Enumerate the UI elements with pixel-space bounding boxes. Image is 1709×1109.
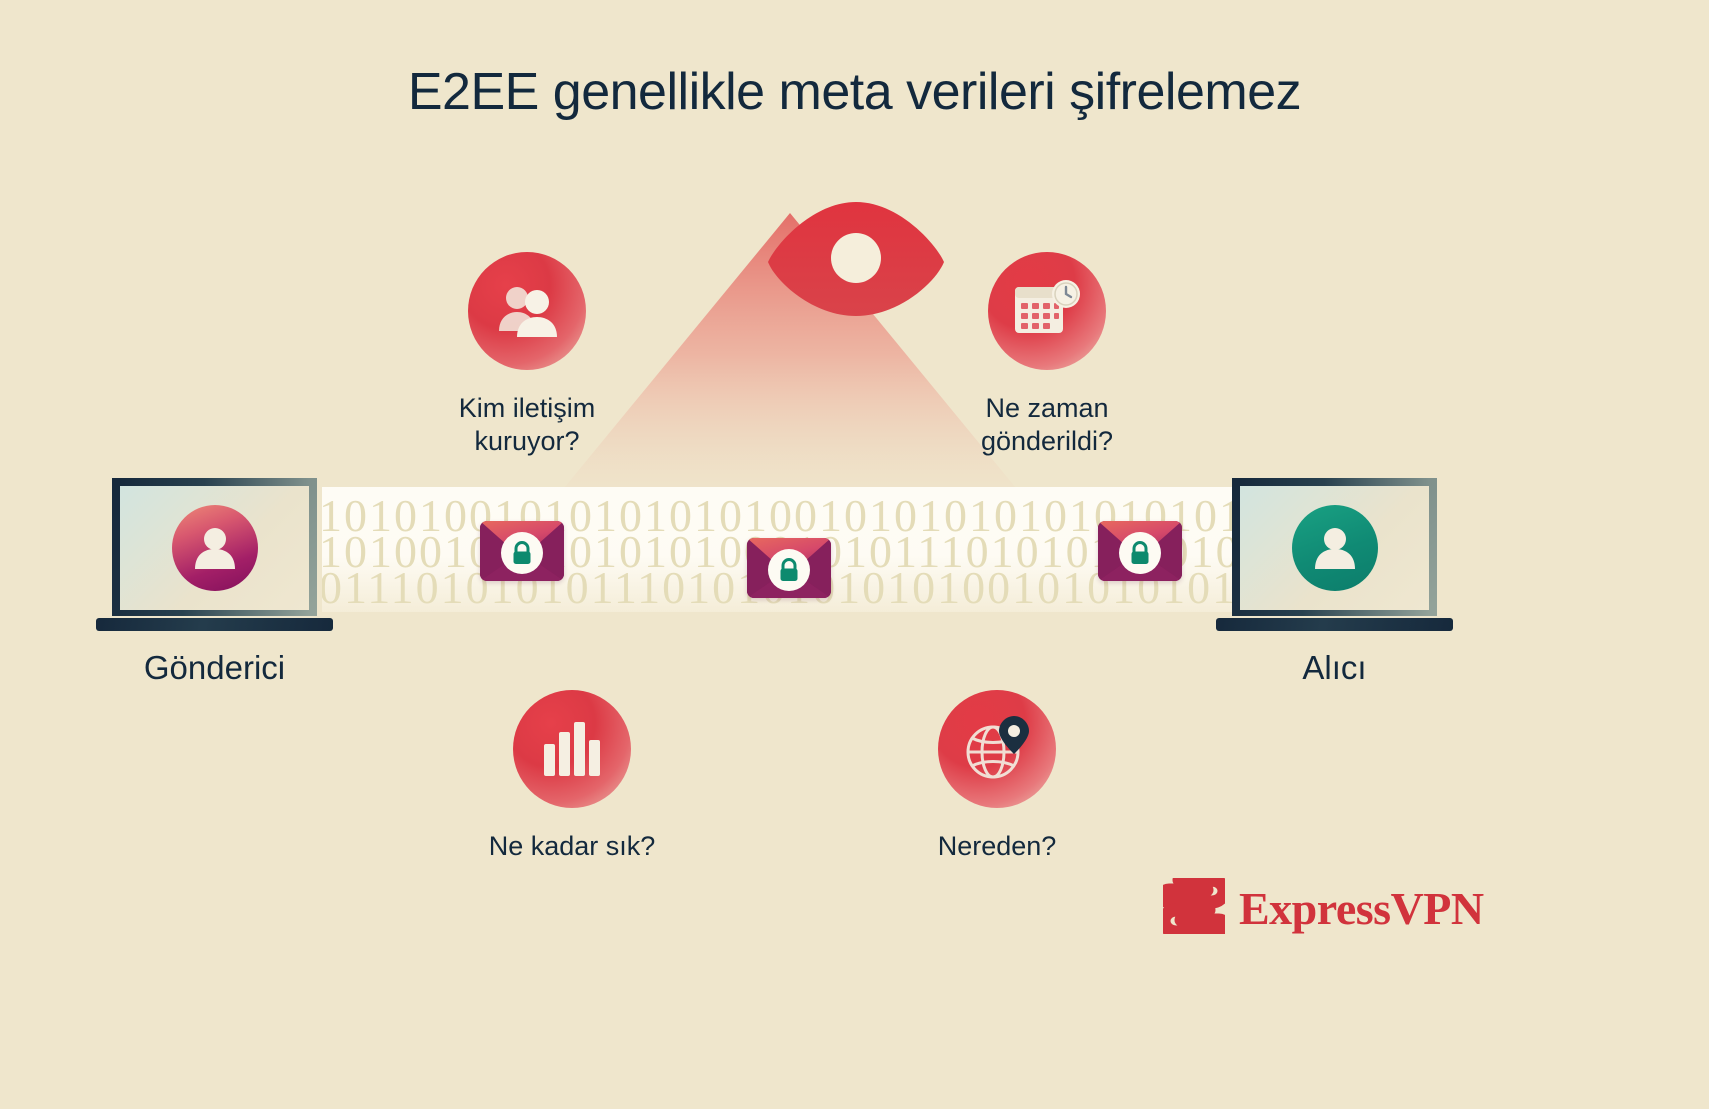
receiver-label: Alıcı xyxy=(1232,649,1437,687)
metadata-node-where-label: Nereden? xyxy=(938,830,1057,863)
metadata-node-when[interactable]: Ne zaman gönderildi? xyxy=(922,252,1172,458)
laptop-base xyxy=(1216,618,1453,631)
expressvpn-logo-icon xyxy=(1163,878,1225,939)
expressvpn-wordmark: ExpressVPN xyxy=(1239,882,1484,935)
calendar-clock-icon xyxy=(988,252,1106,370)
laptop-icon xyxy=(112,478,317,616)
expressvpn-logo[interactable]: ExpressVPN xyxy=(1163,878,1484,939)
locked-envelope-icon[interactable] xyxy=(480,521,564,581)
infographic-canvas: E2EE genellikle meta verileri şifrelemez xyxy=(0,0,1709,1109)
metadata-node-where[interactable]: Nereden? xyxy=(877,690,1117,863)
laptop-base xyxy=(96,618,333,631)
globe-pin-icon xyxy=(938,690,1056,808)
bar-chart-icon xyxy=(513,690,631,808)
metadata-node-who-label: Kim iletişim kuruyor? xyxy=(459,392,596,458)
avatar xyxy=(172,505,258,591)
avatar xyxy=(1292,505,1378,591)
sender-label: Gönderici xyxy=(112,649,317,687)
people-icon xyxy=(468,252,586,370)
lock-icon xyxy=(1119,532,1161,574)
locked-envelope-icon[interactable] xyxy=(747,538,831,598)
eye-icon xyxy=(766,196,946,321)
metadata-node-often-label: Ne kadar sık? xyxy=(489,830,656,863)
page-title: E2EE genellikle meta verileri şifrelemez xyxy=(0,62,1709,122)
lock-icon xyxy=(501,532,543,574)
metadata-node-often[interactable]: Ne kadar sık? xyxy=(452,690,692,863)
receiver-device[interactable]: Alıcı xyxy=(1232,478,1453,687)
metadata-node-who[interactable]: Kim iletişim kuruyor? xyxy=(407,252,647,458)
metadata-node-when-label: Ne zaman gönderildi? xyxy=(981,392,1113,458)
sender-device[interactable]: Gönderici xyxy=(112,478,333,687)
lock-icon xyxy=(768,549,810,591)
laptop-icon xyxy=(1232,478,1437,616)
locked-envelope-icon[interactable] xyxy=(1098,521,1182,581)
